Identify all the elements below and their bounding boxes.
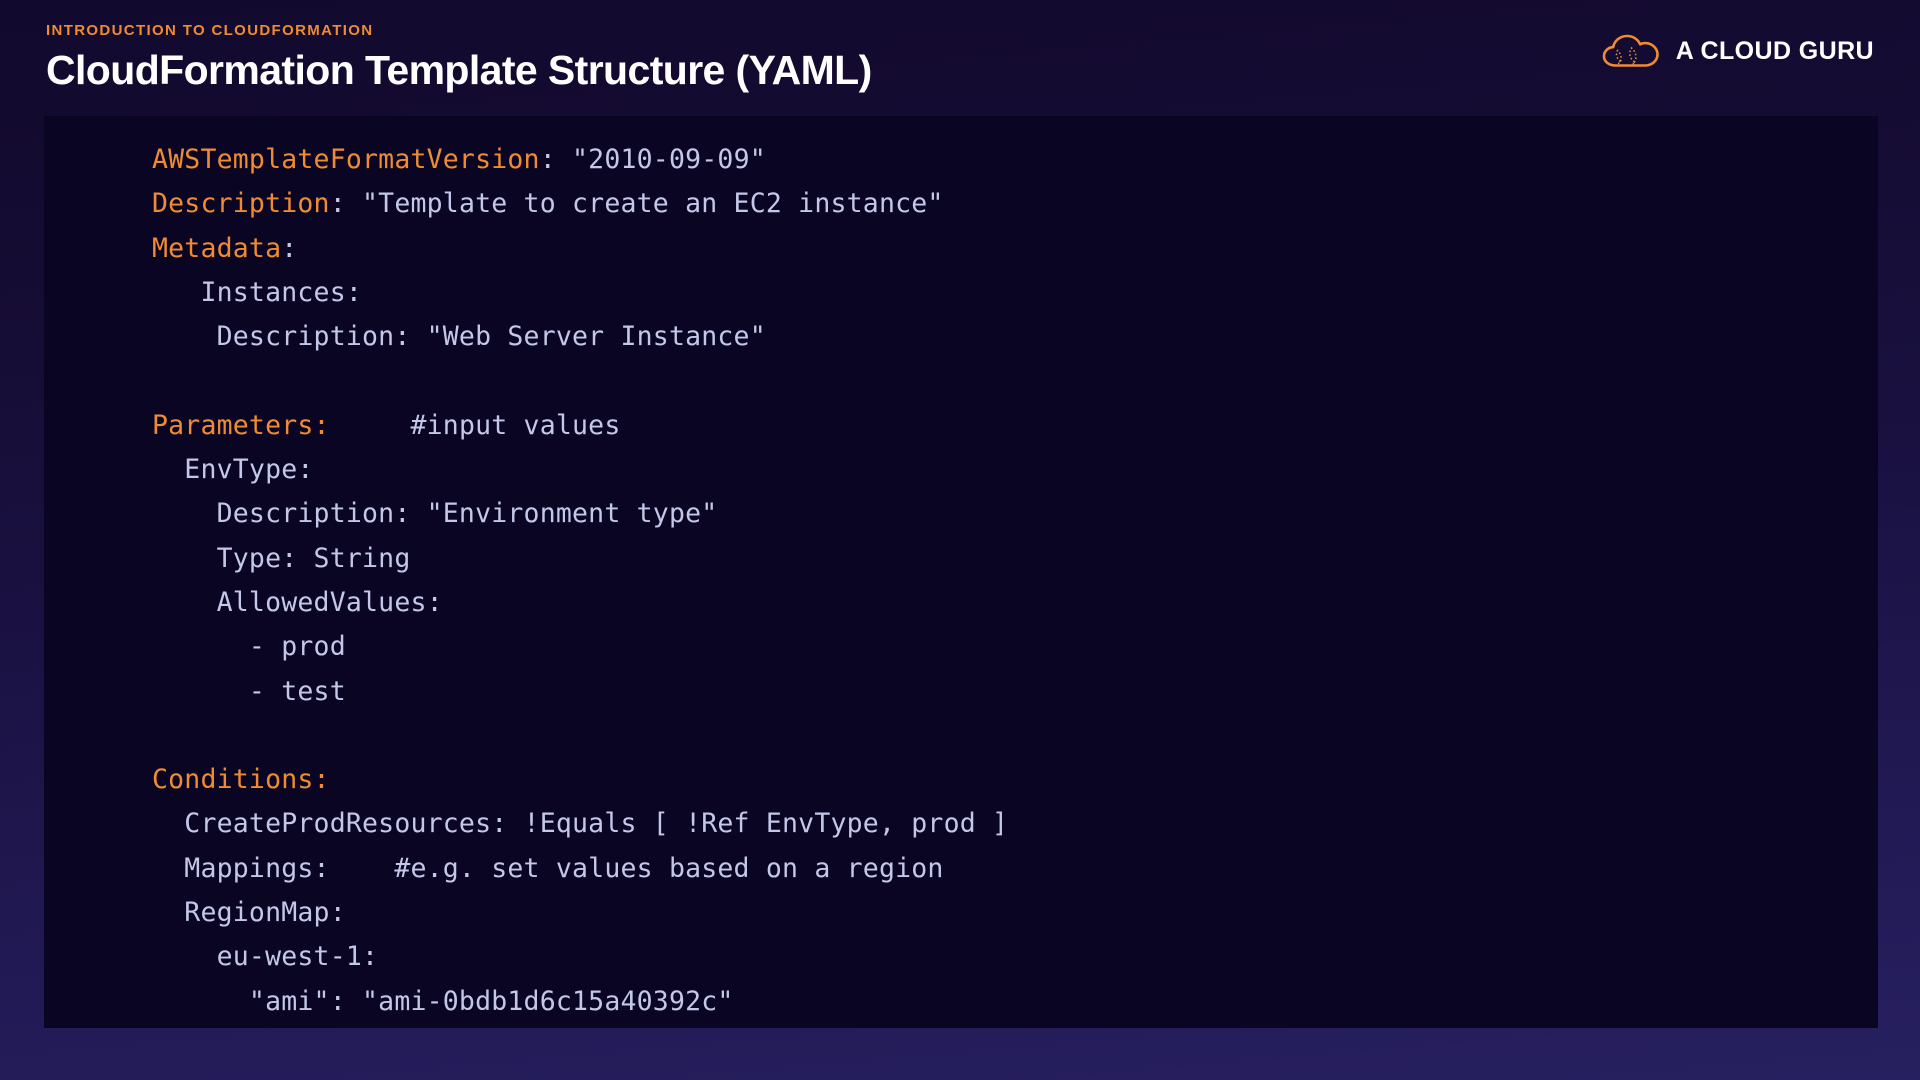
cloud-outline-icon [1601, 32, 1663, 70]
code-keyword: Description [152, 188, 330, 219]
code-text: : "2010-09-09" [540, 144, 766, 175]
code-line: Parameters: #input values [152, 404, 1878, 448]
code-text: : [281, 233, 297, 264]
code-line: EnvType: [152, 448, 1878, 492]
slide-kicker: INTRODUCTION TO CLOUDFORMATION [46, 22, 1872, 40]
code-text: - prod [152, 631, 346, 662]
page-title: CloudFormation Template Structure (YAML) [46, 46, 1872, 94]
code-text: : "Template to create an EC2 instance" [330, 188, 944, 219]
code-line [152, 359, 1878, 403]
code-line: - prod [152, 625, 1878, 669]
code-text: Description: "Web Server Instance" [152, 321, 766, 352]
code-text: #input values [330, 410, 621, 441]
code-line: Instances: [152, 271, 1878, 315]
code-line: Conditions: [152, 758, 1878, 802]
code-keyword: Conditions [152, 764, 314, 795]
code-line: AllowedValues: [152, 581, 1878, 625]
code-text: Type: String [152, 543, 410, 574]
code-block-panel: AWSTemplateFormatVersion: "2010-09-09"De… [44, 116, 1878, 1028]
code-line: Description: "Environment type" [152, 492, 1878, 536]
code-line: Description: "Template to create an EC2 … [152, 182, 1878, 226]
code-keyword: Parameters [152, 410, 314, 441]
code-text: EnvType: [152, 454, 314, 485]
code-keyword: : [314, 764, 330, 795]
code-line [152, 714, 1878, 758]
code-text: eu-west-1: [152, 941, 378, 972]
code-text: RegionMap: [152, 897, 346, 928]
code-line: Type: String [152, 537, 1878, 581]
code-line: Description: "Web Server Instance" [152, 315, 1878, 359]
brand-name: A CLOUD GURU [1676, 36, 1874, 66]
code-line: eu-west-1: [152, 935, 1878, 979]
code-line: AWSTemplateFormatVersion: "2010-09-09" [152, 138, 1878, 182]
code-line: CreateProdResources: !Equals [ !Ref EnvT… [152, 802, 1878, 846]
brand-logo: A CLOUD GURU [1601, 32, 1874, 70]
code-text: AllowedValues: [152, 587, 443, 618]
code-line: Metadata: [152, 227, 1878, 271]
yaml-code: AWSTemplateFormatVersion: "2010-09-09"De… [44, 138, 1878, 1024]
code-keyword: : [314, 410, 330, 441]
code-text: Instances: [152, 277, 362, 308]
code-text: Mappings: #e.g. set values based on a re… [152, 853, 944, 884]
code-text: CreateProdResources: !Equals [ !Ref EnvT… [152, 808, 1008, 839]
code-line: RegionMap: [152, 891, 1878, 935]
code-text: - test [152, 676, 346, 707]
code-text: Description: "Environment type" [152, 498, 717, 529]
code-keyword: AWSTemplateFormatVersion [152, 144, 540, 175]
code-keyword: Metadata [152, 233, 281, 264]
code-line: Mappings: #e.g. set values based on a re… [152, 847, 1878, 891]
code-line: "ami": "ami-0bdb1d6c15a40392c" [152, 980, 1878, 1024]
code-text: "ami": "ami-0bdb1d6c15a40392c" [152, 986, 734, 1017]
code-line: - test [152, 670, 1878, 714]
